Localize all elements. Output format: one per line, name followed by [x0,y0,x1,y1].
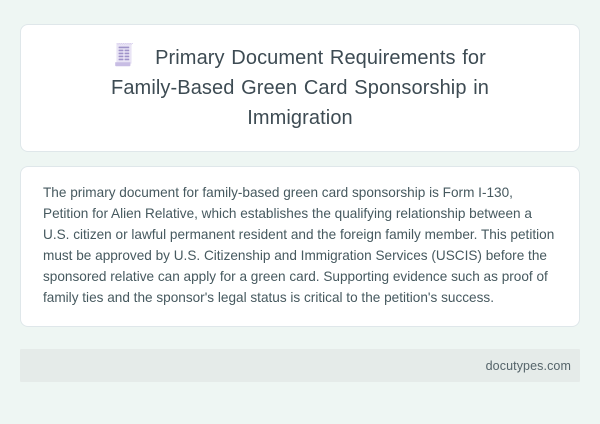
page-title: Primary Document Requirements for Family… [47,42,553,133]
page-root: Primary Document Requirements for Family… [0,0,600,424]
footer-bar: docutypes.com [20,349,580,382]
title-line-3: Immigration [47,103,553,133]
footer-site-label: docutypes.com [486,359,571,373]
title-text-line-1: Primary Document Requirements for [155,47,486,69]
title-line-2: Family-Based Green Card Sponsorship in [47,73,553,103]
body-paragraph: The primary document for family-based gr… [43,182,557,308]
receipt-icon [114,42,135,67]
title-line-1: Primary Document Requirements for [47,42,553,73]
body-card: The primary document for family-based gr… [20,166,580,327]
title-card: Primary Document Requirements for Family… [20,24,580,152]
